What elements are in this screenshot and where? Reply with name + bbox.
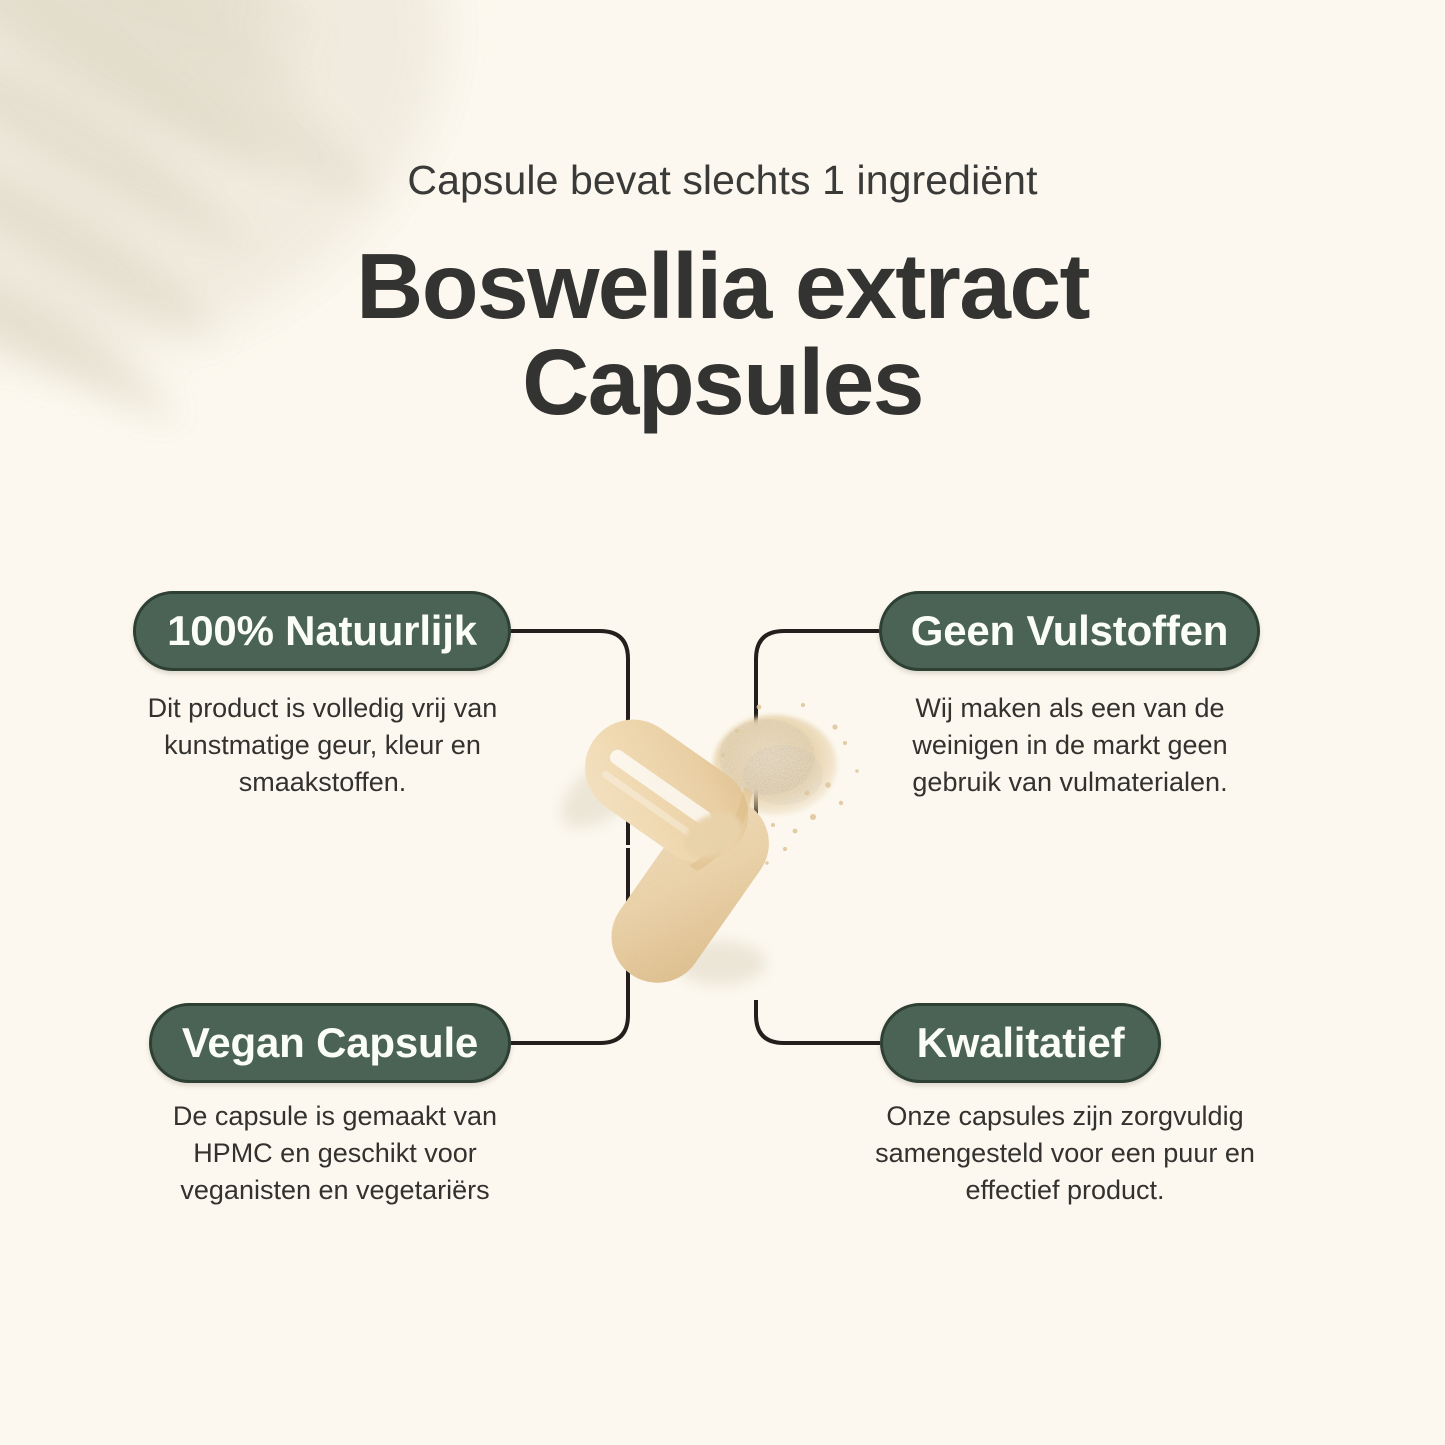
- description-quality: Onze capsules zijn zorgvuldig samengeste…: [870, 1098, 1260, 1209]
- page-title: Boswellia extract Capsules: [0, 238, 1445, 430]
- description-natural: Dit product is volledig vrij van kunstma…: [120, 690, 525, 801]
- badge-natural[interactable]: 100% Natuurlijk: [133, 591, 511, 671]
- title-line-2: Capsules: [0, 334, 1445, 430]
- badge-fillers[interactable]: Geen Vulstoffen: [879, 591, 1260, 671]
- subtitle: Capsule bevat slechts 1 ingrediënt: [0, 157, 1445, 204]
- product-capsule-image: [545, 685, 875, 1015]
- title-line-1: Boswellia extract: [0, 238, 1445, 334]
- badge-vegan[interactable]: Vegan Capsule: [149, 1003, 511, 1083]
- description-vegan: De capsule is gemaakt van HPMC en geschi…: [140, 1098, 530, 1209]
- badge-quality[interactable]: Kwalitatief: [880, 1003, 1161, 1083]
- description-fillers: Wij maken als een van de weinigen in de …: [880, 690, 1260, 801]
- infographic-canvas: Capsule bevat slechts 1 ingrediënt Boswe…: [0, 0, 1445, 1445]
